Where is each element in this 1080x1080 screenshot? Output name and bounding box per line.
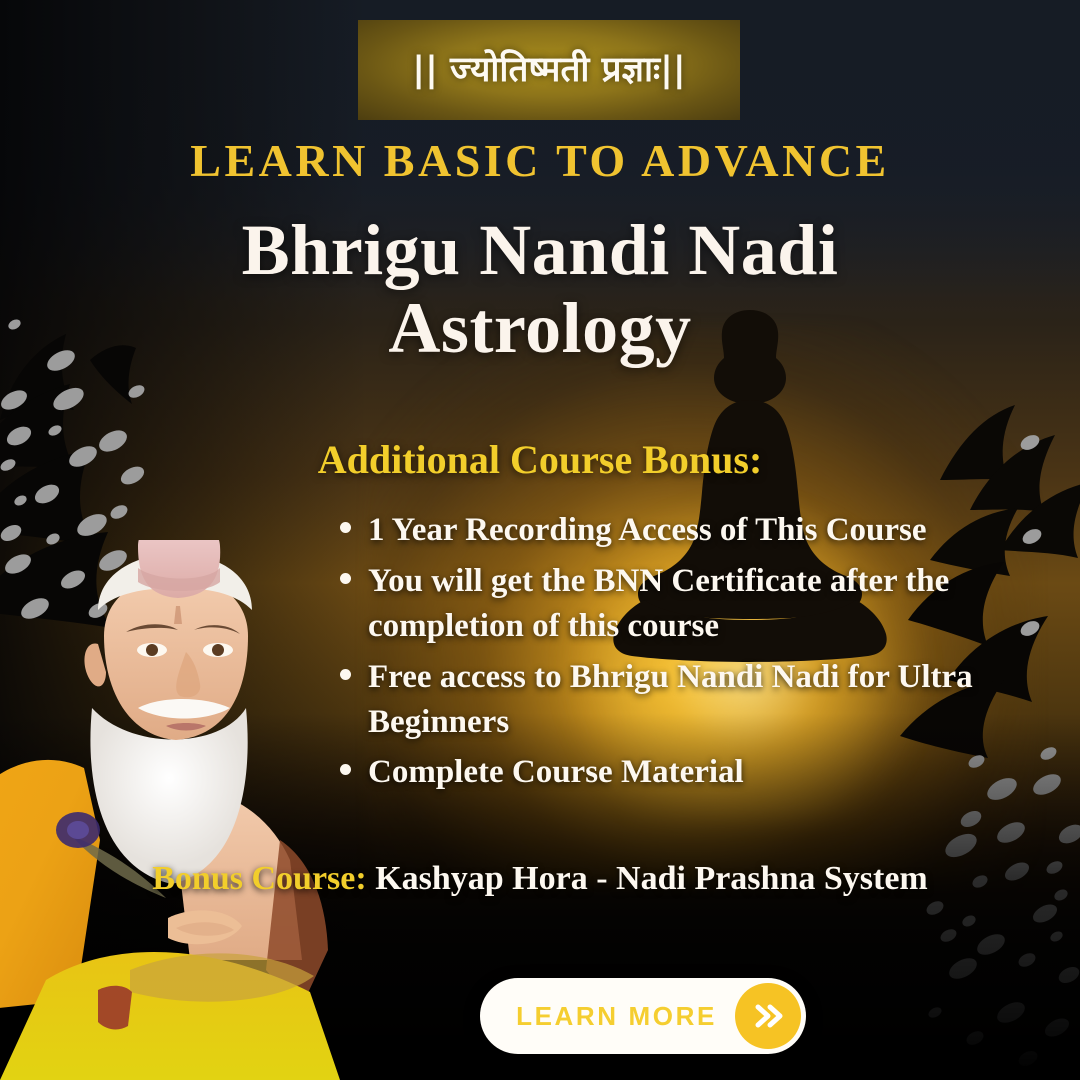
learn-more-label: LEARN MORE [480, 1001, 735, 1032]
sanskrit-banner: || ज्योतिष्मती प्रज्ञाः|| [358, 20, 740, 120]
bonus-heading: Additional Course Bonus: [0, 440, 1080, 480]
bonus-course-value: Kashyap Hora - Nadi Prashna System [375, 860, 928, 897]
bonus-course-label: Bonus Course: [152, 860, 366, 897]
list-item: 1 Year Recording Access of This Course [336, 508, 1036, 553]
list-item: Complete Course Material [336, 750, 1036, 795]
learn-more-button[interactable]: LEARN MORE [480, 978, 806, 1054]
bhrigu-rishi-portrait [0, 540, 380, 1080]
list-item: Free access to Bhrigu Nandi Nadi for Ult… [336, 655, 1036, 745]
bonus-list: 1 Year Recording Access of This Course Y… [336, 508, 1036, 801]
list-item: You will get the BNN Certificate after t… [336, 559, 1036, 649]
page-title-line-2: Astrology [0, 290, 1080, 368]
double-chevron-right-icon[interactable] [735, 983, 801, 1049]
promotional-poster: || ज्योतिष्मती प्रज्ञाः|| LEARN BASIC TO… [0, 0, 1080, 1080]
kicker-heading: LEARN BASIC TO ADVANCE [0, 138, 1080, 184]
bonus-course-line: Bonus Course: Kashyap Hora - Nadi Prashn… [150, 855, 930, 903]
page-title: Bhrigu Nandi Nadi Astrology [0, 212, 1080, 368]
sanskrit-banner-text: || ज्योतिष्मती प्रज्ञाः|| [412, 53, 685, 88]
page-title-line-1: Bhrigu Nandi Nadi [0, 212, 1080, 290]
